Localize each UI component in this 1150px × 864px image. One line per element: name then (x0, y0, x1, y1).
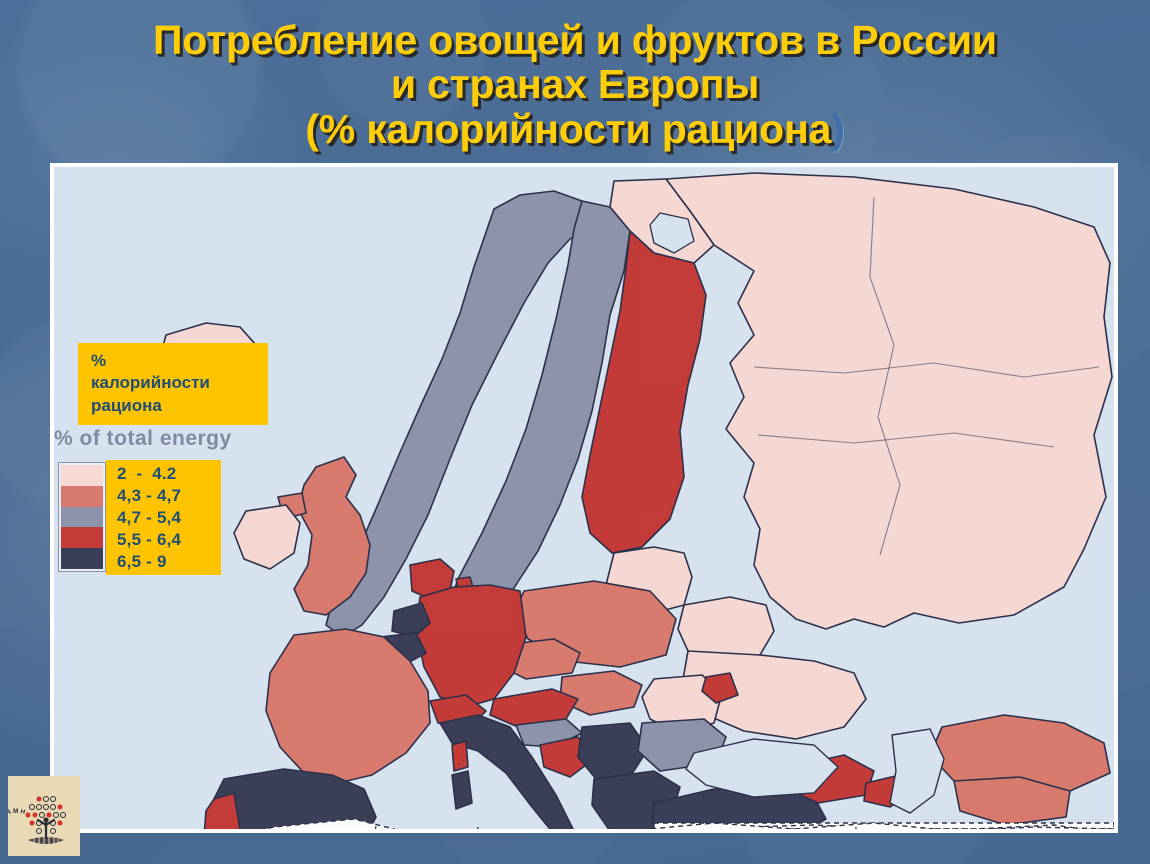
legend-color-swatches (58, 462, 106, 572)
institute-logo-graphic: ГУ НИИ ПИТАНИЯ РАМН (8, 776, 80, 856)
legend-value-labels: 2 - 4.2 4,3 - 4,7 4,7 - 5,4 5,5 - 6,4 6,… (106, 460, 221, 575)
slide-title-trailing-paren: ) (831, 106, 844, 152)
legend-label-0: 2 - 4.2 (117, 463, 221, 485)
presentation-slide: Потребление овощей и фруктов в России и … (0, 0, 1150, 864)
legend-swatch-0 (61, 465, 103, 486)
legend-title-box: % калорийности рациона (78, 343, 268, 425)
legend-swatch-4 (61, 548, 103, 569)
slide-title: Потребление овощей и фруктов в России и … (0, 18, 1150, 151)
slide-title-text: Потребление овощей и фруктов в России и … (153, 17, 997, 152)
region-corsica (452, 741, 468, 771)
legend-subtitle-english: % of total energy (54, 427, 232, 451)
legend-label-1: 4,3 - 4,7 (117, 485, 221, 507)
legend-swatch-3 (61, 527, 103, 548)
legend-label-2: 4,7 - 5,4 (117, 507, 221, 529)
legend-swatch-1 (61, 486, 103, 507)
region-sardinia (452, 771, 472, 809)
legend-swatch-2 (61, 507, 103, 528)
legend-label-4: 6,5 - 9 (117, 551, 221, 573)
institute-logo: ГУ НИИ ПИТАНИЯ РАМН (8, 776, 80, 856)
legend-title-text: % калорийности рациона (91, 350, 268, 417)
legend-label-3: 5,5 - 6,4 (117, 529, 221, 551)
